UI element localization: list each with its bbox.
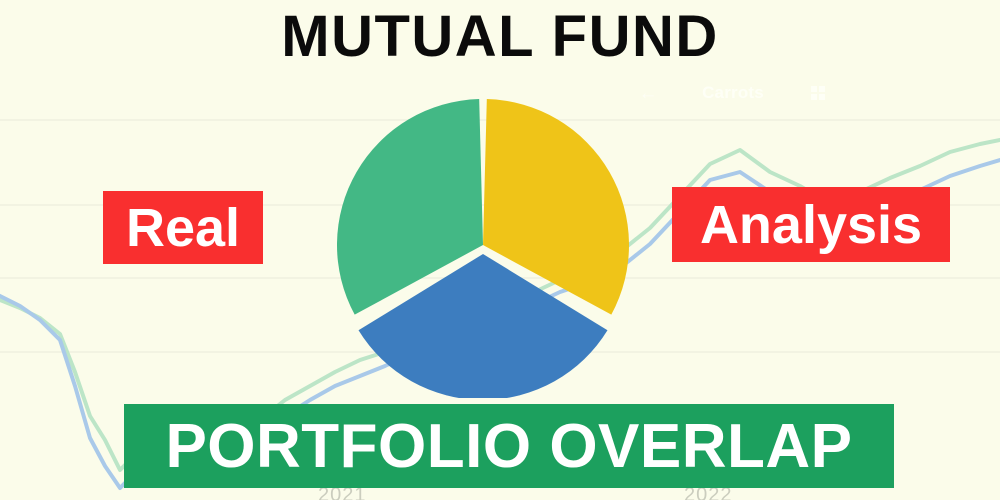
poster-canvas: 2021 2022 ← Carrots MUTUAL FUND Real Ana…	[0, 0, 1000, 500]
pie-chart	[330, 92, 636, 398]
tag-analysis: Analysis	[672, 187, 950, 262]
banner-portfolio-overlap: PORTFOLIO OVERLAP	[124, 404, 894, 488]
pie-slice-group	[337, 99, 629, 398]
tag-real: Real	[103, 191, 263, 264]
page-title: MUTUAL FUND	[0, 7, 1000, 68]
